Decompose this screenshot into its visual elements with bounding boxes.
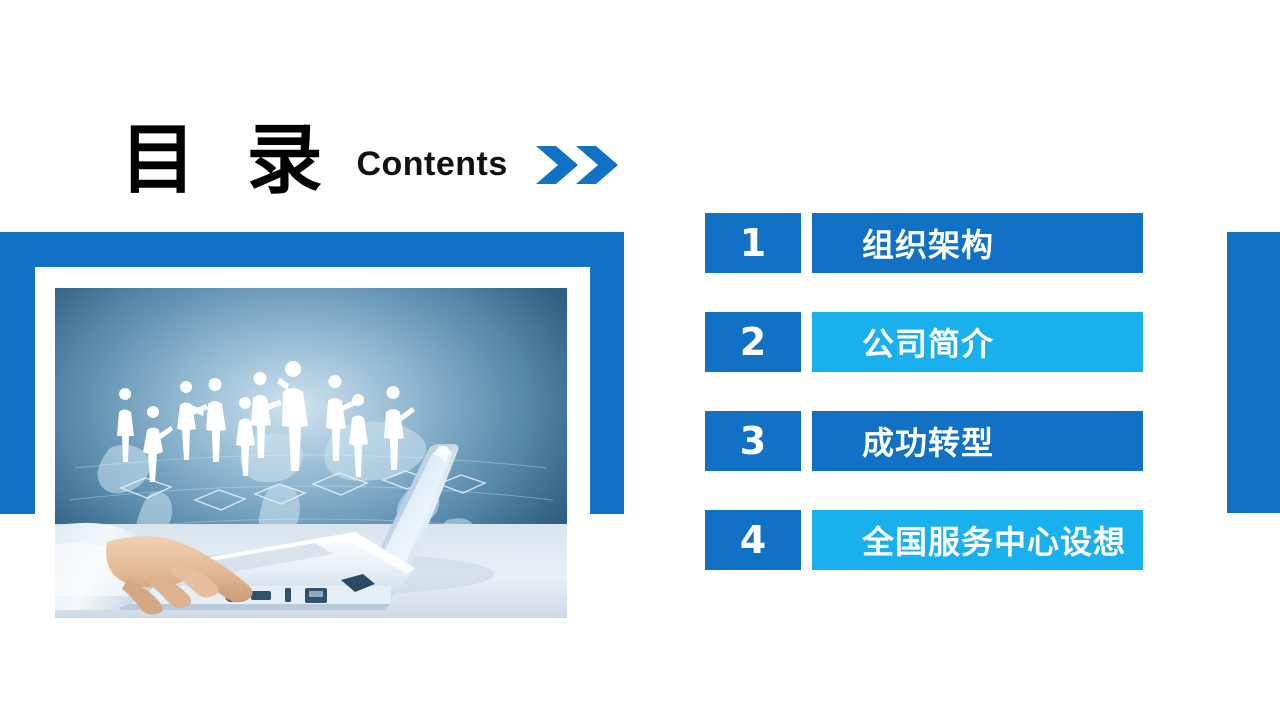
contents-item-4-number: 4 <box>705 510 801 570</box>
contents-item-3[interactable]: 3 成功转型 <box>705 411 1143 471</box>
contents-item-2[interactable]: 2 公司简介 <box>705 312 1143 372</box>
contents-item-1[interactable]: 1 组织架构 <box>705 213 1143 273</box>
contents-item-1-number: 1 <box>705 213 801 273</box>
contents-item-4-label: 全国服务中心设想 <box>812 510 1143 570</box>
slide-header: 目 录 Contents <box>120 108 618 200</box>
laptop-world-map-photo <box>55 288 567 618</box>
double-chevron-right-icon <box>534 144 618 186</box>
contents-list: 1 组织架构 2 公司简介 3 成功转型 4 全国服务中心设想 <box>705 213 1143 570</box>
slide-canvas: 目 录 Contents <box>0 0 1280 720</box>
contents-item-1-label: 组织架构 <box>812 213 1143 273</box>
page-title: 目 录 <box>120 122 334 198</box>
page-subtitle: Contents <box>356 145 507 184</box>
contents-item-4[interactable]: 4 全国服务中心设想 <box>705 510 1143 570</box>
contents-item-2-label: 公司简介 <box>812 312 1143 372</box>
right-accent-strip <box>1227 232 1280 513</box>
contents-item-2-number: 2 <box>705 312 801 372</box>
contents-item-3-label: 成功转型 <box>812 411 1143 471</box>
contents-item-3-number: 3 <box>705 411 801 471</box>
